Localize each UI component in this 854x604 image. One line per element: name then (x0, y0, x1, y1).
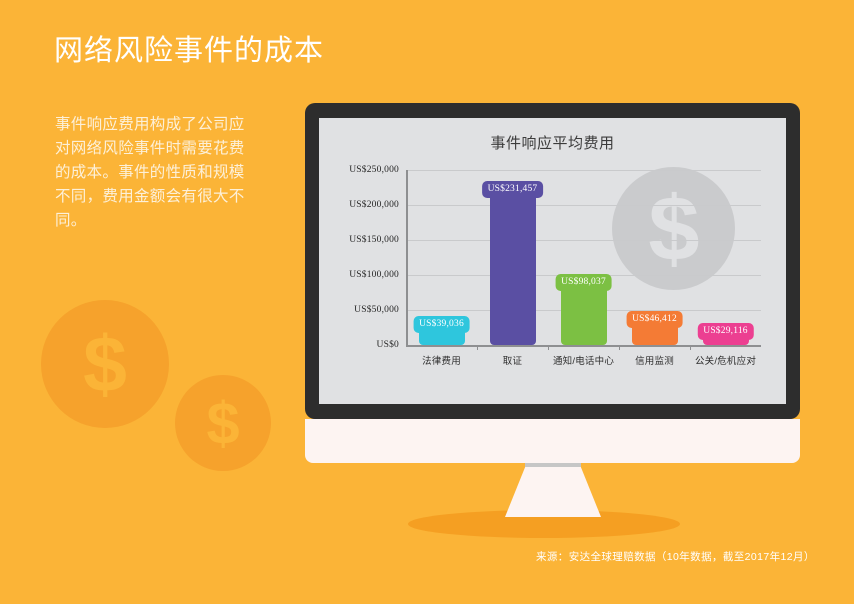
svg-text:$: $ (648, 183, 699, 275)
x-axis-tick-mark (619, 345, 620, 350)
x-axis-tick-label: 取证 (503, 353, 522, 367)
svg-text:$: $ (83, 323, 127, 405)
chart-plot-area: $ US$250,000US$200,000US$150,000US$100,0… (406, 170, 761, 345)
monitor-screen: 事件响应平均费用 $ US$250,000US$200,000US$150,00… (319, 118, 786, 404)
y-axis-tick-label: US$200,000 (349, 200, 399, 210)
x-axis-tick-label: 信用监测 (635, 353, 674, 367)
dollar-coin-large-icon: $ (41, 300, 169, 428)
dollar-coin-small-icon: $ (175, 375, 271, 471)
x-axis-tick-mark (548, 345, 549, 350)
monitor-chin (305, 419, 800, 463)
x-axis-tick-label: 法律费用 (422, 353, 461, 367)
x-axis-tick-mark (477, 345, 478, 350)
chart-bar: US$98,037 (561, 276, 607, 345)
x-axis-line (406, 345, 761, 347)
chart-bar: US$39,036 (419, 318, 465, 345)
y-axis-line (406, 170, 408, 345)
chart-title: 事件响应平均费用 (319, 132, 786, 153)
monitor-stand (505, 467, 601, 517)
y-axis-tick-label: US$50,000 (354, 305, 399, 315)
gridline (406, 170, 761, 171)
gridline (406, 205, 761, 206)
source-note: 来源：安达全球理赔数据（10年数据，截至2017年12月） (536, 549, 815, 564)
chart-bar: US$29,116 (703, 325, 749, 345)
gridline (406, 240, 761, 241)
bar-value-label: US$39,036 (413, 316, 470, 333)
x-axis-tick-mark (690, 345, 691, 350)
bar-value-label: US$29,116 (697, 323, 753, 340)
x-axis-tick-label: 公关/危机应对 (695, 353, 756, 367)
y-axis-tick-label: US$0 (377, 340, 399, 350)
intro-paragraph: 事件响应费用构成了公司应对网络风险事件时需要花费的成本。事件的性质和规模不同，费… (55, 113, 260, 233)
poster-canvas: $ $ 网络风险事件的成本 事件响应费用构成了公司应对网络风险事件时需要花费的成… (0, 0, 854, 604)
chart-bar: US$46,412 (632, 313, 678, 345)
bar-value-label: US$231,457 (482, 181, 544, 198)
y-axis-tick-label: US$150,000 (349, 235, 399, 245)
chart-bar: US$231,457 (490, 183, 536, 345)
x-axis-tick-label: 通知/电话中心 (553, 353, 614, 367)
y-axis-tick-label: US$250,000 (349, 165, 399, 175)
bar-value-label: US$98,037 (555, 274, 612, 291)
page-title: 网络风险事件的成本 (54, 33, 324, 71)
dollar-watermark-icon: $ (612, 167, 735, 290)
svg-text:$: $ (206, 392, 239, 454)
y-axis-tick-label: US$100,000 (349, 270, 399, 280)
bar-value-label: US$46,412 (626, 311, 683, 328)
